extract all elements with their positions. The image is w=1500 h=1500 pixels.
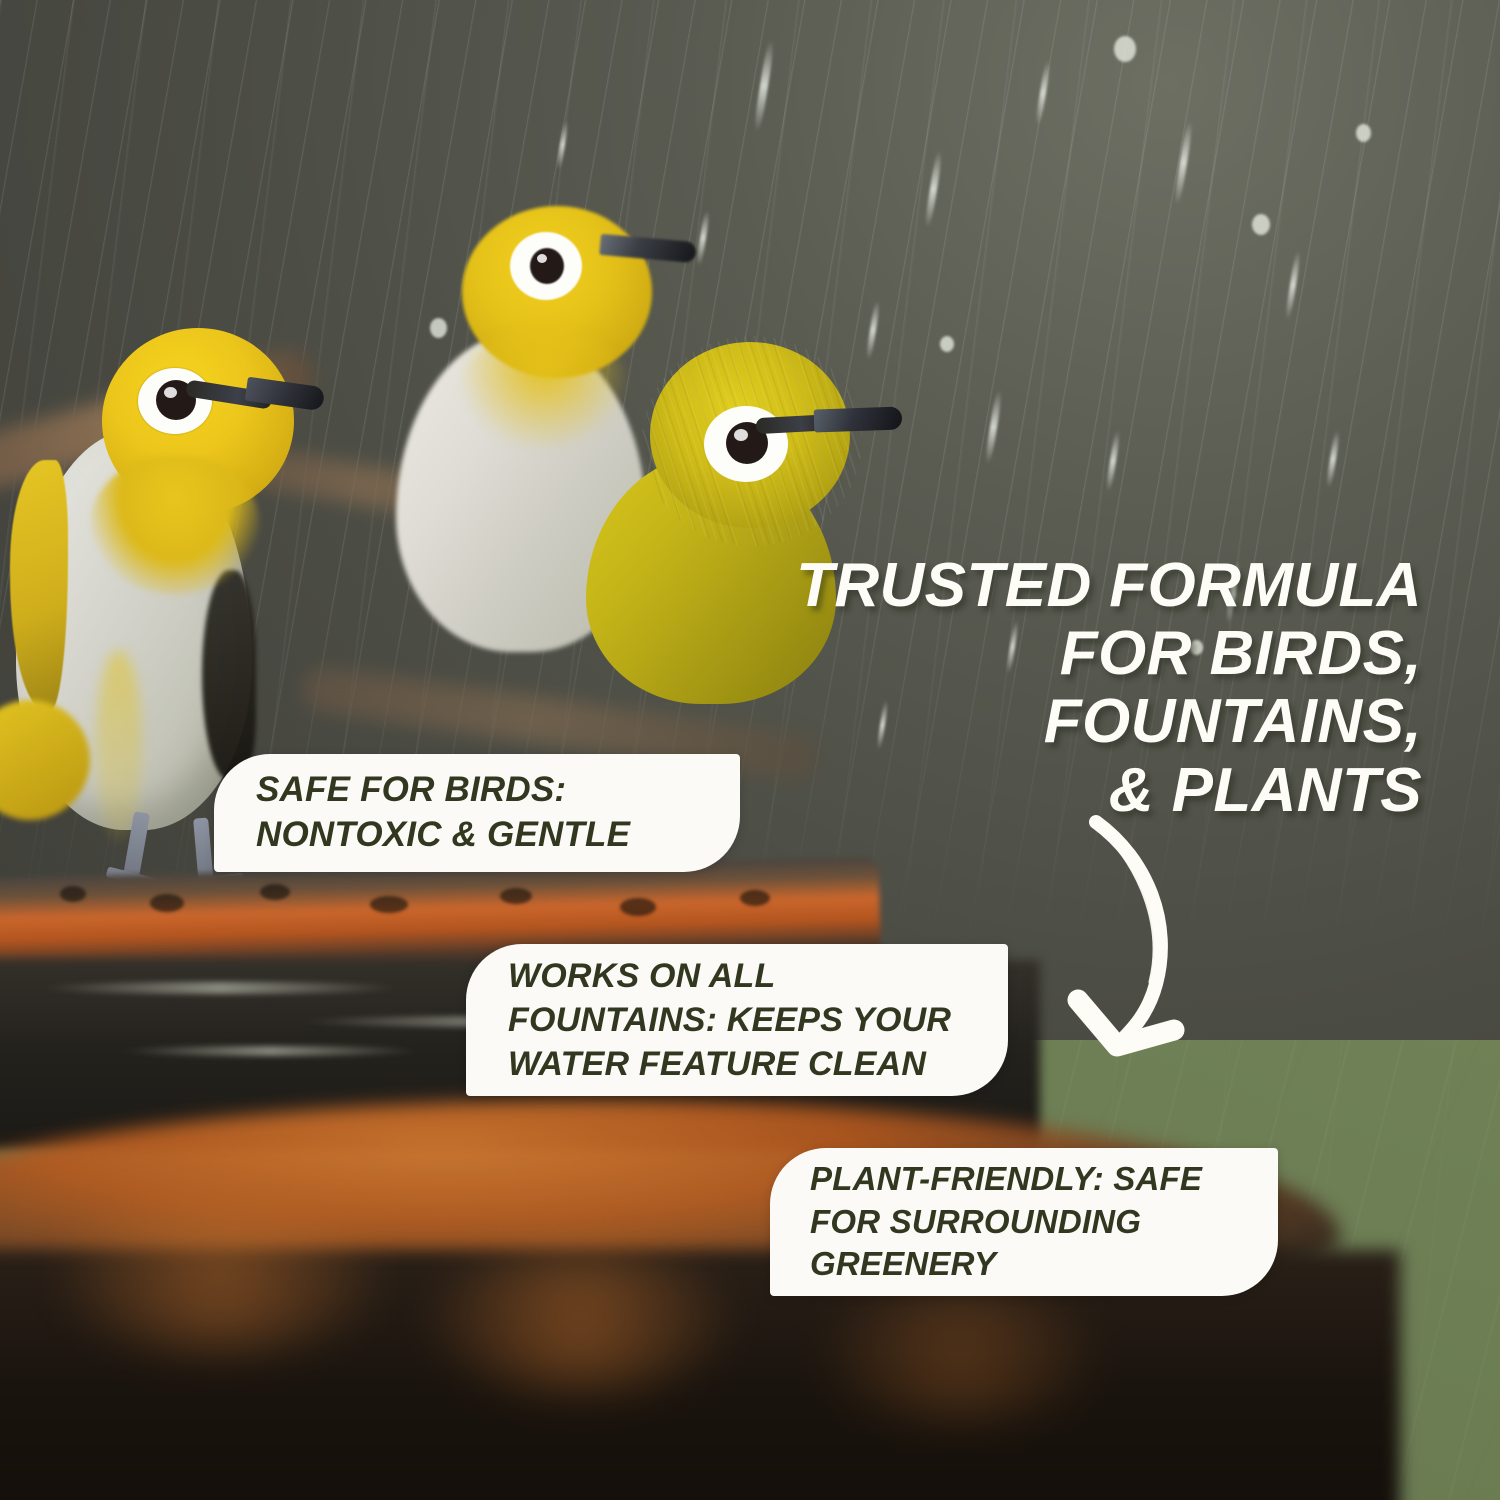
curved-down-arrow-icon <box>1062 812 1252 1072</box>
bird-eye-glint <box>164 387 177 398</box>
rim-speck <box>60 886 86 902</box>
bird-eye-glint <box>537 254 547 263</box>
bird-beak <box>814 406 903 432</box>
rain-drop <box>1114 36 1136 62</box>
bird-eye <box>530 248 564 284</box>
water-sheen <box>120 1046 420 1056</box>
rim-speck <box>260 884 290 900</box>
bird-eye-glint <box>734 429 748 441</box>
rain-drop <box>1252 214 1270 235</box>
water-sheen <box>40 982 400 994</box>
rim-speck <box>740 890 770 906</box>
bird-wing-dark <box>202 570 256 780</box>
callout-works-on-all-fountains: WORKS ON ALL FOUNTAINS: KEEPS YOUR WATER… <box>466 944 1008 1096</box>
rim-speck <box>500 888 532 904</box>
basin-glow <box>60 1200 380 1350</box>
basin-glow <box>820 1290 1100 1420</box>
bird-throat <box>90 455 260 595</box>
infographic-canvas: TRUSTED FORMULA FOR BIRDS, FOUNTAINS, & … <box>0 0 1500 1500</box>
callout-plant-friendly: PLANT-FRIENDLY: SAFE FOR SURROUNDING GRE… <box>770 1148 1278 1296</box>
rain-drop <box>1356 124 1371 142</box>
rain-drop <box>940 336 954 352</box>
callout-safe-for-birds: SAFE FOR BIRDS: NONTOXIC & GENTLE <box>214 754 740 872</box>
rim-speck <box>150 894 184 912</box>
rim-speck <box>370 896 408 913</box>
page-title: TRUSTED FORMULA FOR BIRDS, FOUNTAINS, & … <box>702 552 1422 825</box>
basin-glow <box>430 1250 730 1390</box>
rim-speck <box>620 898 656 916</box>
